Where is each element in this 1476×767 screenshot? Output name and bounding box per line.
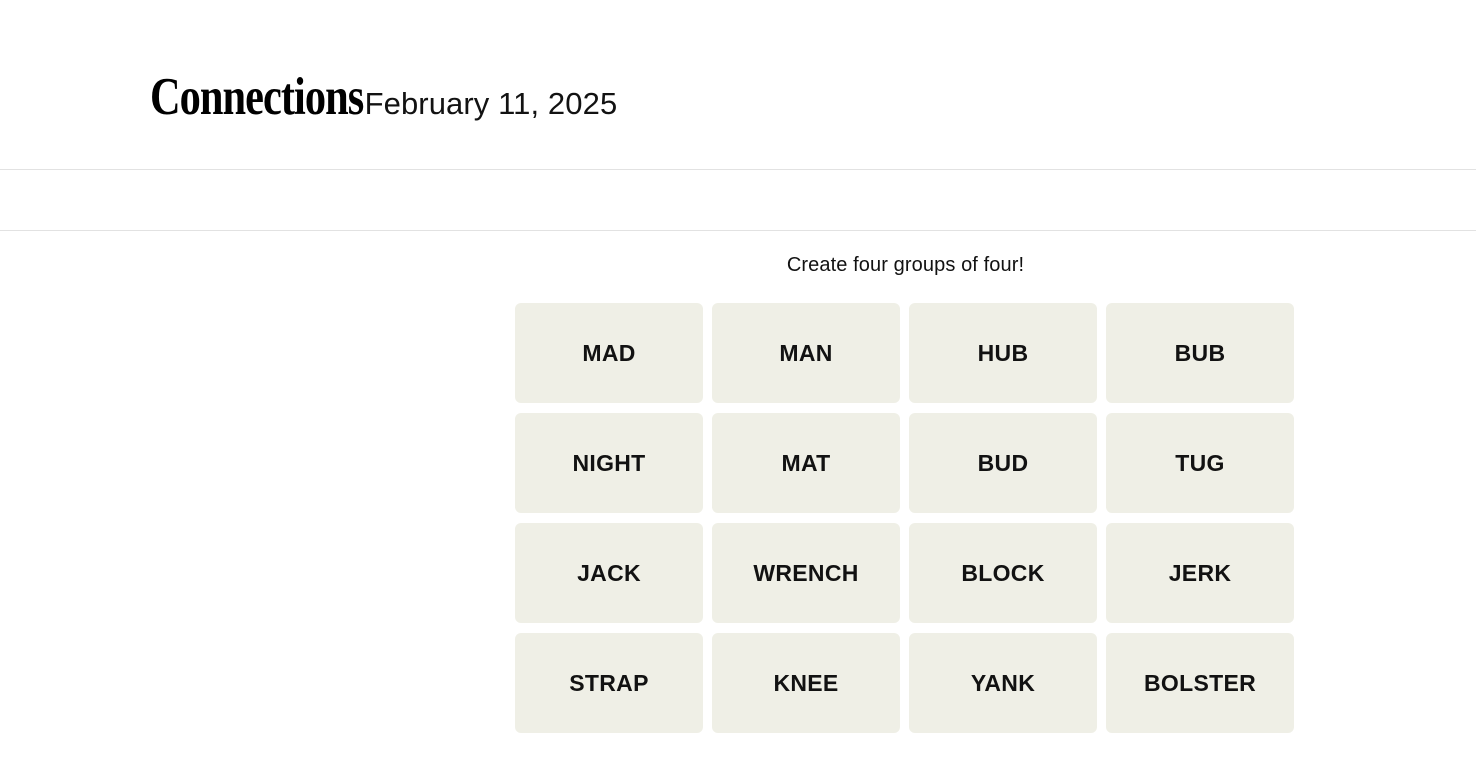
word-tile[interactable]: BLOCK — [909, 523, 1097, 623]
page-header: Connections February 11, 2025 — [0, 0, 1476, 169]
word-tile-label: MAT — [781, 452, 830, 475]
header-divider-bottom — [0, 230, 1476, 231]
word-tile-label: KNEE — [773, 672, 838, 695]
word-tile-label: MAD — [582, 342, 635, 365]
word-tile-label: NIGHT — [572, 452, 645, 475]
word-tile-label: WRENCH — [753, 562, 858, 585]
word-tile[interactable]: MAT — [712, 413, 900, 513]
word-tile-label: JACK — [577, 562, 641, 585]
word-tile[interactable]: WRENCH — [712, 523, 900, 623]
word-tile[interactable]: MAN — [712, 303, 900, 403]
word-tile[interactable]: BUD — [909, 413, 1097, 513]
word-tile-label: STRAP — [569, 672, 648, 695]
word-tile[interactable]: JACK — [515, 523, 703, 623]
word-tile-label: MAN — [779, 342, 832, 365]
puzzle-date: February 11, 2025 — [365, 88, 618, 119]
word-tile-label: BLOCK — [961, 562, 1044, 585]
word-tile-label: HUB — [978, 342, 1029, 365]
board-instruction: Create four groups of four! — [515, 255, 1296, 275]
word-tile[interactable]: NIGHT — [515, 413, 703, 513]
word-tile-label: TUG — [1175, 452, 1224, 475]
word-tile-label: JERK — [1169, 562, 1232, 585]
word-tile[interactable]: KNEE — [712, 633, 900, 733]
word-tile[interactable]: MAD — [515, 303, 703, 403]
header-title-group: Connections February 11, 2025 — [150, 71, 617, 124]
word-tile[interactable]: JERK — [1106, 523, 1294, 623]
word-tile[interactable]: BUB — [1106, 303, 1294, 403]
puzzle-board: Create four groups of four! MADMANHUBBUB… — [515, 255, 1296, 733]
word-tile[interactable]: STRAP — [515, 633, 703, 733]
word-tile-label: BUD — [978, 452, 1029, 475]
word-tile-label: BUB — [1175, 342, 1226, 365]
page-title: Connections — [150, 71, 363, 124]
word-tile[interactable]: YANK — [909, 633, 1097, 733]
word-tile[interactable]: TUG — [1106, 413, 1294, 513]
word-tile-label: BOLSTER — [1144, 672, 1256, 695]
word-tile[interactable]: BOLSTER — [1106, 633, 1294, 733]
word-tile-label: YANK — [971, 672, 1035, 695]
toolbar-bar — [0, 170, 1476, 230]
tile-grid: MADMANHUBBUBNIGHTMATBUDTUGJACKWRENCHBLOC… — [515, 303, 1296, 733]
word-tile[interactable]: HUB — [909, 303, 1097, 403]
